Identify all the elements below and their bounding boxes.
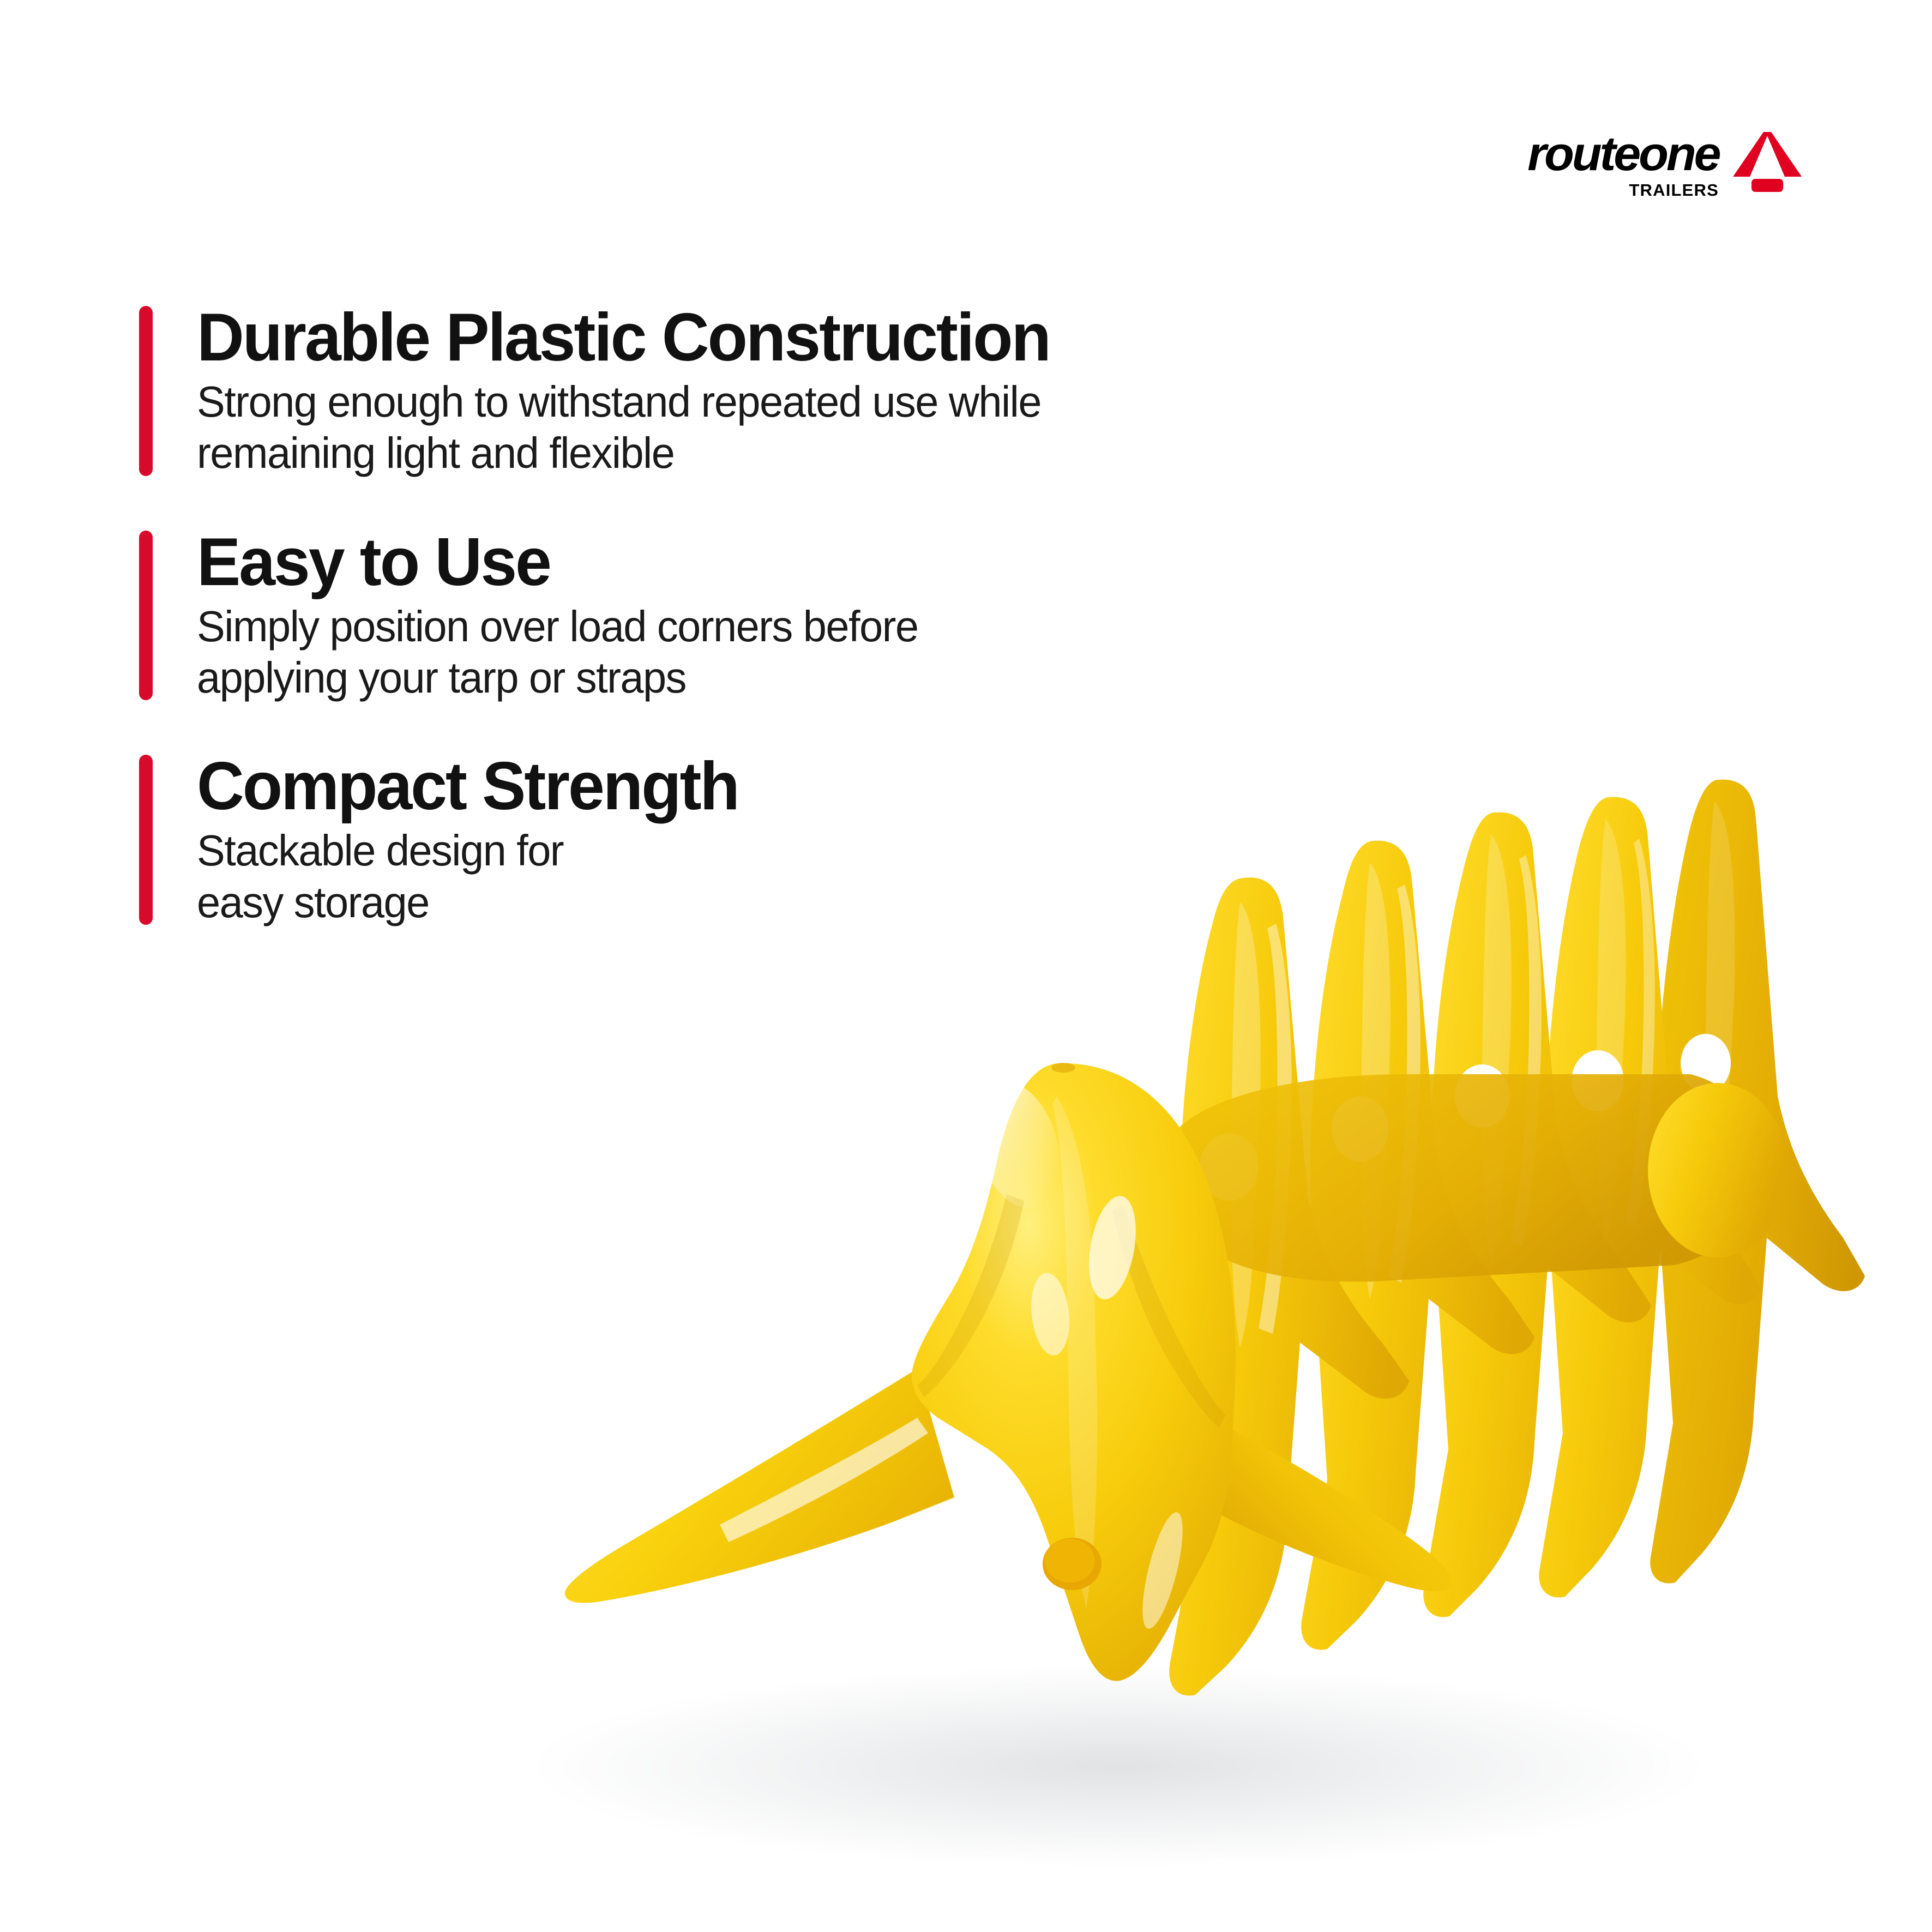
brand-subword: TRAILERS [1629,180,1719,200]
product-stack-rear [1169,780,1865,1696]
brand-logo: routeone TRAILERS [1531,130,1804,200]
feature-title: Durable Plastic Construction [197,303,1463,373]
feature-item-durable-plastic-construction: Durable Plastic Construction Strong enou… [139,303,1502,479]
product-photo [338,714,1932,1932]
logo-text-group: routeone TRAILERS [1531,130,1719,200]
accent-bar [139,755,153,925]
feature-description: Simply position over load corners before… [197,601,1463,704]
front-piece-left-fin [565,1369,954,1603]
feature-description: Strong enough to withstand repeated use … [197,376,1463,479]
brand-wordmark: routeone [1527,132,1719,176]
feature-item-easy-to-use: Easy to Use Simply position over load co… [139,527,1502,704]
marketing-image-canvas: routeone TRAILERS Durable Plastic Constr… [0,0,1932,1932]
mounting-hole [1045,1539,1095,1582]
routeone-triangle-logo-icon [1732,130,1804,193]
stack-rear-dome [1648,1083,1787,1257]
accent-bar [139,306,153,476]
accent-bar [139,531,153,701]
feature-title: Easy to Use [197,527,1463,598]
front-piece-top-nub [1051,1063,1075,1073]
product-illustration [338,714,1932,1932]
product-drop-shadow [529,1666,1707,1868]
